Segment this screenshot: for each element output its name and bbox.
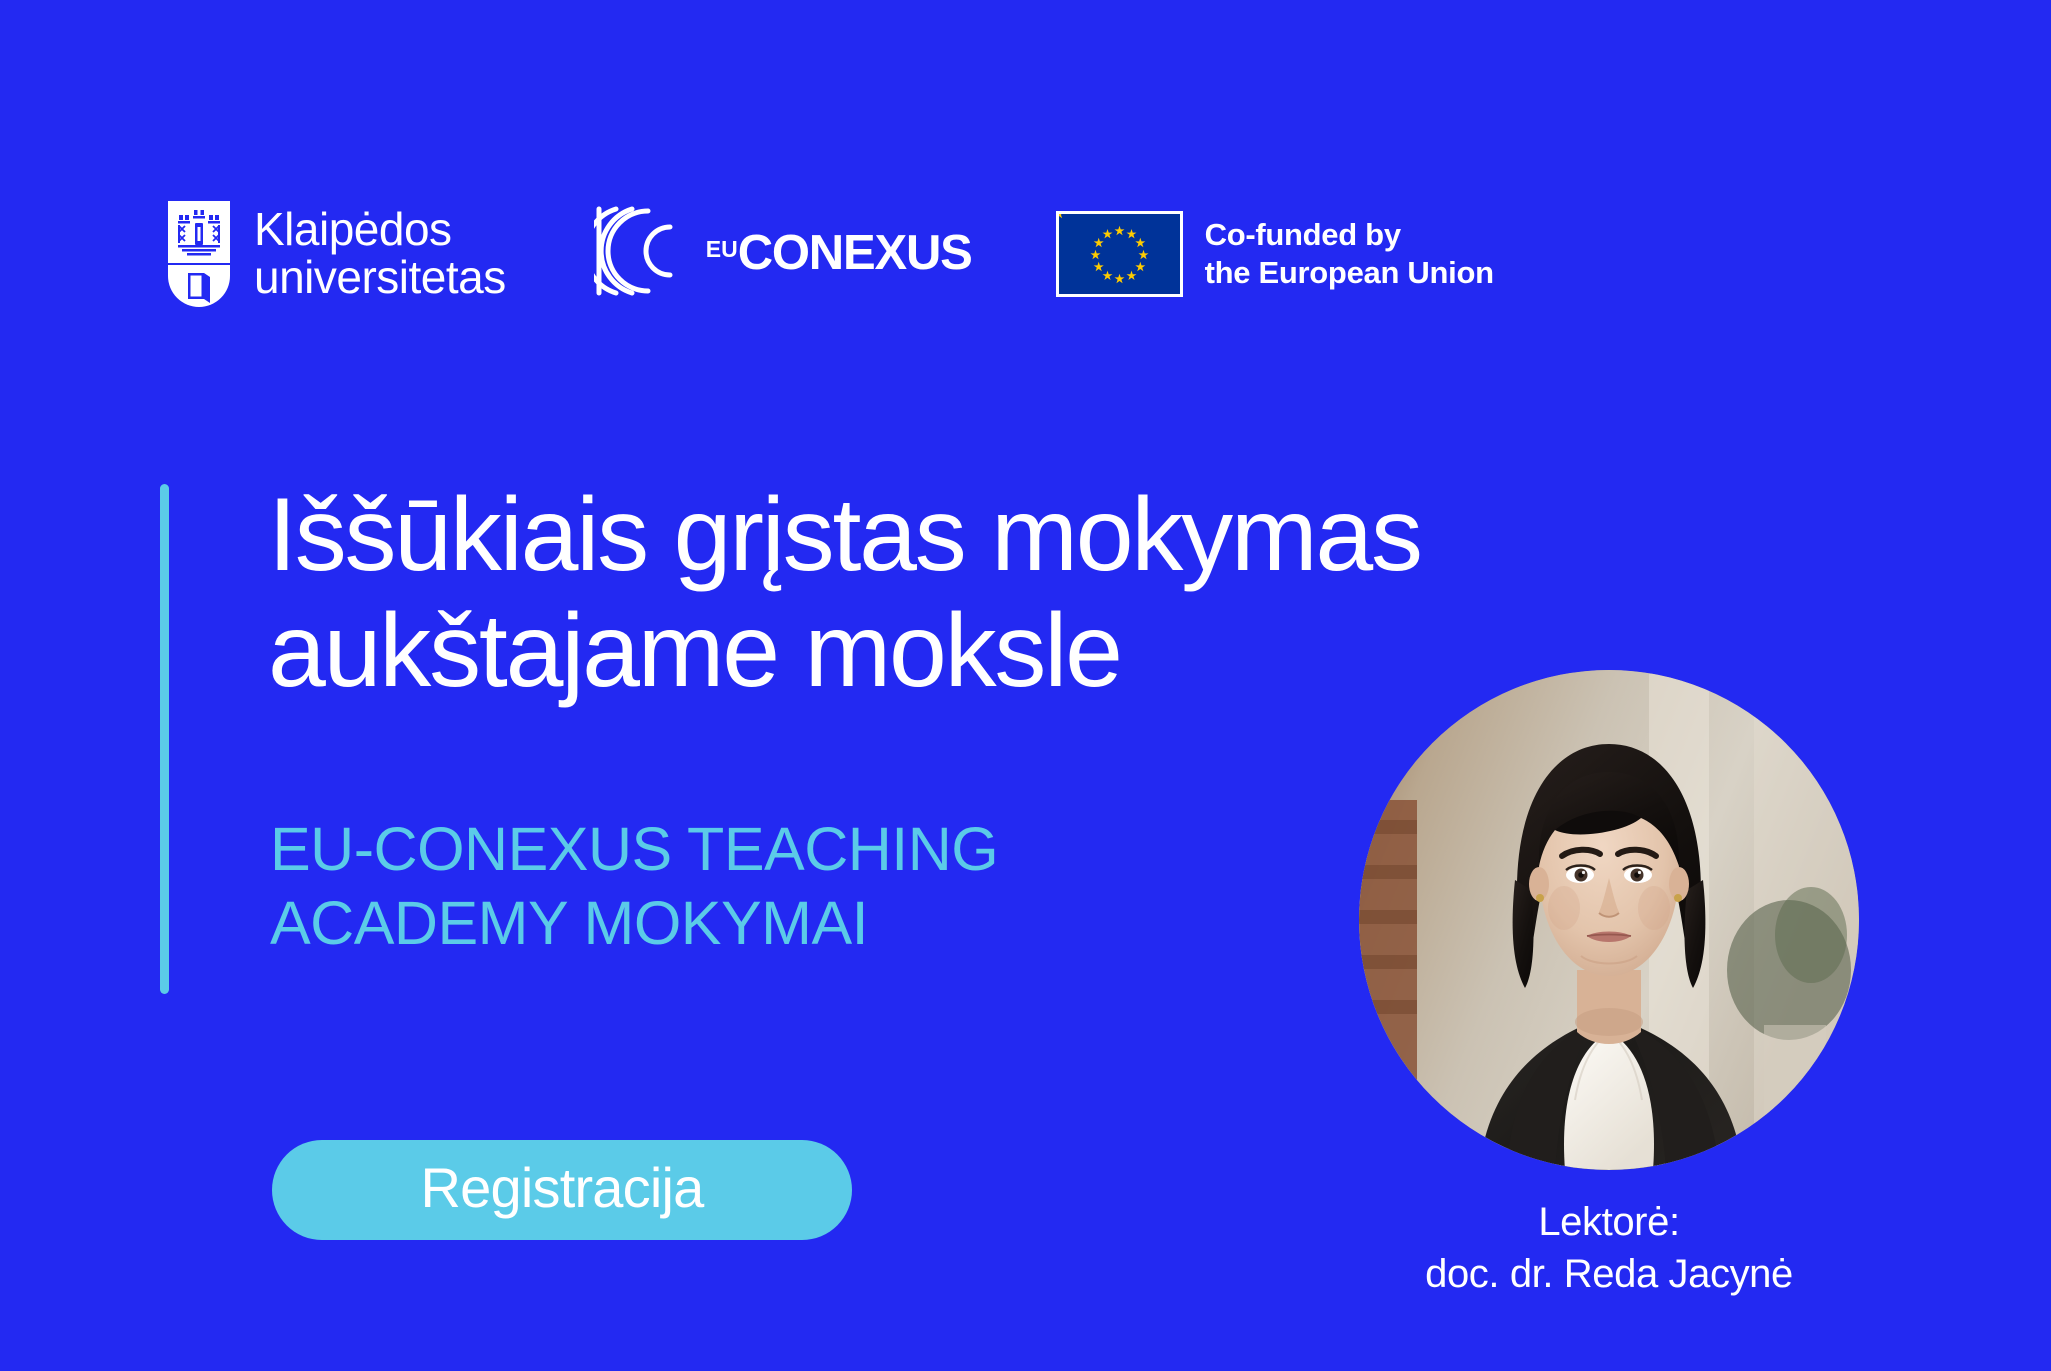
eu-flag-icon xyxy=(1056,211,1183,297)
accent-bar xyxy=(160,484,169,994)
avatar xyxy=(1359,670,1859,1170)
university-wordmark: Klaipėdos universitetas xyxy=(254,206,506,302)
event-promo-banner: Klaipėdos universitetas EU CONEXUS xyxy=(0,0,2051,1371)
page-subtitle: EU-CONEXUS TEACHING ACADEMY MOKYMAI xyxy=(270,812,1170,961)
klaipeda-university-logo: Klaipėdos universitetas xyxy=(168,201,506,307)
eu-cofunded-text: Co-funded by the European Union xyxy=(1205,216,1494,292)
page-title: Iššūkiais grįstas mokymas aukštajame mok… xyxy=(268,477,1448,710)
concentric-arcs-icon xyxy=(594,205,690,302)
conexus-prefix: EU xyxy=(706,238,738,261)
eu-conexus-logo: EU CONEXUS xyxy=(594,205,972,302)
lecturer-caption: Lektorė: doc. dr. Reda Jacynė xyxy=(1359,1196,1859,1300)
registration-button[interactable]: Registracija xyxy=(272,1140,852,1240)
castle-shield-icon xyxy=(168,201,230,307)
lecturer-portrait xyxy=(1359,670,1859,1170)
conexus-wordmark: CONEXUS xyxy=(738,234,972,272)
eu-cofunded-logo: Co-funded by the European Union xyxy=(1056,211,1494,297)
partner-logos-strip: Klaipėdos universitetas EU CONEXUS xyxy=(168,196,1494,311)
